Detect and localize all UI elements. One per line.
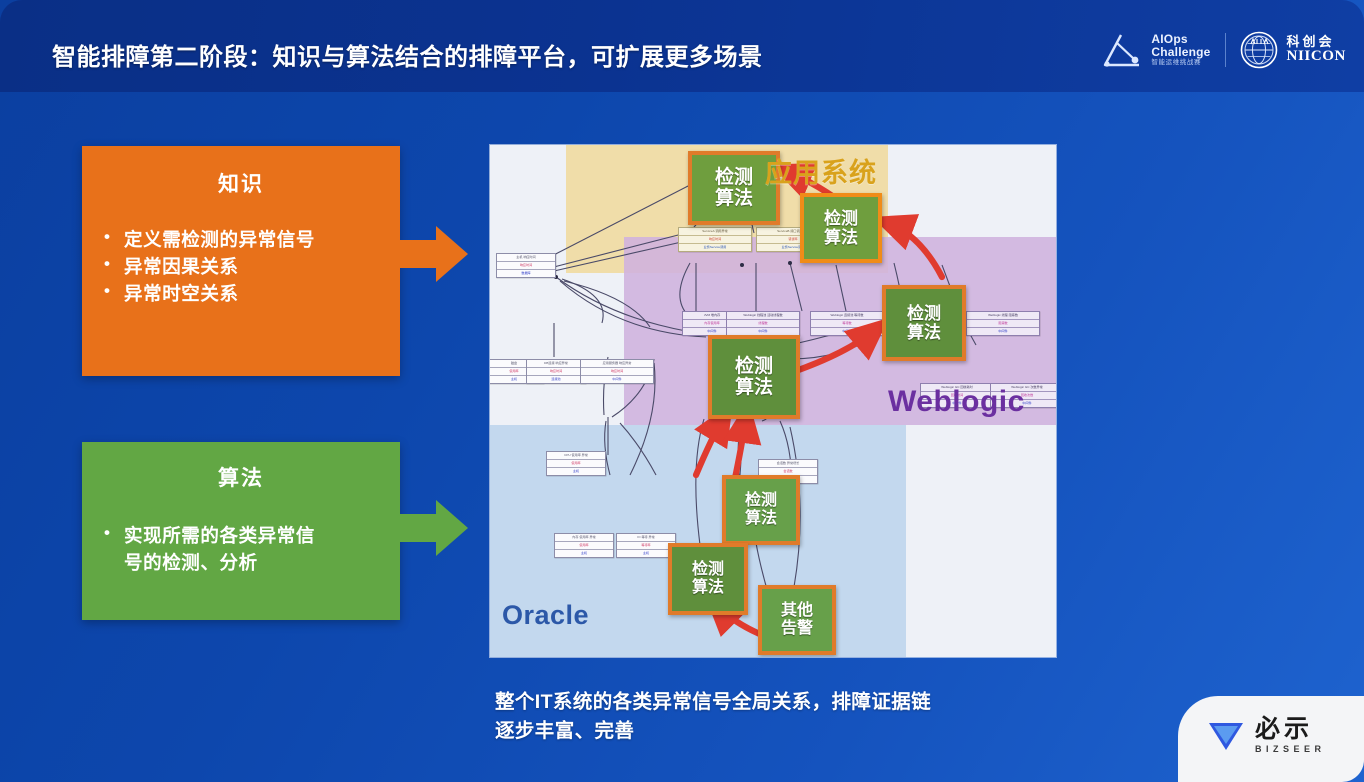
- algo-line2: 算法: [692, 579, 724, 597]
- zone-label-oracle: Oracle: [502, 600, 589, 631]
- alarm-line1: 其他: [781, 602, 813, 620]
- list-item: 定义需检测的异常信号: [96, 226, 400, 253]
- zone-label-weblogic: Weblogic: [888, 385, 1025, 419]
- algo-line2: 算法: [745, 510, 777, 528]
- bizseer-brand-en: BIZSEER: [1255, 745, 1326, 754]
- slide-root: 智能排障第二阶段：知识与算法结合的排障平台，可扩展更多场景 AIOps Chal…: [0, 0, 1364, 782]
- algo-line2: 算法: [824, 228, 858, 247]
- globe-emblem-icon: [1240, 31, 1278, 69]
- algo-line1: 检测: [735, 356, 773, 377]
- niicon-logo-en: NIICON: [1287, 49, 1346, 65]
- slide-header: 智能排障第二阶段：知识与算法结合的排障平台，可扩展更多场景 AIOps Chal…: [0, 0, 1364, 92]
- algorithm-to-diagram-arrow: [396, 500, 468, 556]
- algo-line2: 算法: [735, 377, 773, 398]
- logo-divider: [1225, 33, 1226, 67]
- knowledge-card-title: 知识: [82, 168, 400, 198]
- knowledge-card: 知识 定义需检测的异常信号 异常因果关系 异常时空关系: [82, 146, 400, 376]
- diagram-caption: 整个IT系统的各类异常信号全局关系，排障证据链 逐步丰富、完善: [495, 688, 1095, 746]
- bizseer-footer-logo: 必示 BIZSEER: [1178, 696, 1364, 782]
- knowledge-bullet-list: 定义需检测的异常信号 异常因果关系 异常时空关系: [82, 226, 400, 307]
- list-item: 异常因果关系: [96, 253, 400, 280]
- algo-line2: 算法: [715, 188, 753, 209]
- other-alarm-box: 其他 告警: [758, 585, 836, 655]
- algo-line1: 检测: [824, 209, 858, 228]
- bizseer-chevron-icon: [1206, 716, 1246, 754]
- detection-algo-box: 检测 算法: [722, 475, 800, 545]
- detection-algo-box: 检测 算法: [800, 193, 882, 263]
- detection-algo-box: 检测 算法: [882, 285, 966, 361]
- algorithm-bullet-line2: 号的检测、分析: [124, 549, 400, 576]
- aiops-logo-line1: AIOps: [1151, 33, 1210, 45]
- algorithm-bullet-list: 实现所需的各类异常信 号的检测、分析: [82, 522, 400, 576]
- aiops-triangle-icon: [1101, 32, 1143, 68]
- header-logos: AIOps Challenge 智能运维挑战赛: [1101, 26, 1346, 74]
- caption-line1: 整个IT系统的各类异常信号全局关系，排障证据链: [495, 688, 1095, 717]
- zone-label-application: 应用系统: [765, 151, 877, 190]
- algo-line1: 检测: [745, 492, 777, 510]
- algo-line1: 检测: [692, 561, 724, 579]
- list-item: 异常时空关系: [96, 280, 400, 307]
- knowledge-to-diagram-arrow: [396, 226, 468, 282]
- algorithm-bullet-line1: 实现所需的各类异常信: [124, 522, 400, 549]
- algo-line1: 检测: [715, 167, 753, 188]
- list-item: 实现所需的各类异常信 号的检测、分析: [96, 522, 400, 576]
- detection-algo-box: 检测 算法: [708, 335, 800, 419]
- bizseer-brand-cn: 必示: [1255, 717, 1326, 742]
- aiops-logo-line2: Challenge: [1151, 46, 1210, 58]
- niicon-logo-cn: 科创会: [1287, 35, 1346, 49]
- architecture-diagram-panel: ServiceA 调用异常 响应时间 业务Service调用 ServiceB …: [490, 145, 1056, 657]
- algo-line1: 检测: [907, 304, 941, 323]
- algorithm-card: 算法 实现所需的各类异常信 号的检测、分析: [82, 442, 400, 620]
- detection-algo-box: 检测 算法: [668, 543, 748, 615]
- niicon-logo: 科创会 NIICON: [1240, 31, 1346, 69]
- algo-line2: 算法: [907, 323, 941, 342]
- caption-line2: 逐步丰富、完善: [495, 717, 1095, 746]
- page-title: 智能排障第二阶段：知识与算法结合的排障平台，可扩展更多场景: [52, 37, 763, 72]
- alarm-line2: 告警: [781, 620, 813, 638]
- aiops-challenge-logo: AIOps Challenge 智能运维挑战赛: [1101, 32, 1210, 68]
- algorithm-card-title: 算法: [82, 462, 400, 492]
- aiops-logo-subtitle: 智能运维挑战赛: [1151, 60, 1210, 67]
